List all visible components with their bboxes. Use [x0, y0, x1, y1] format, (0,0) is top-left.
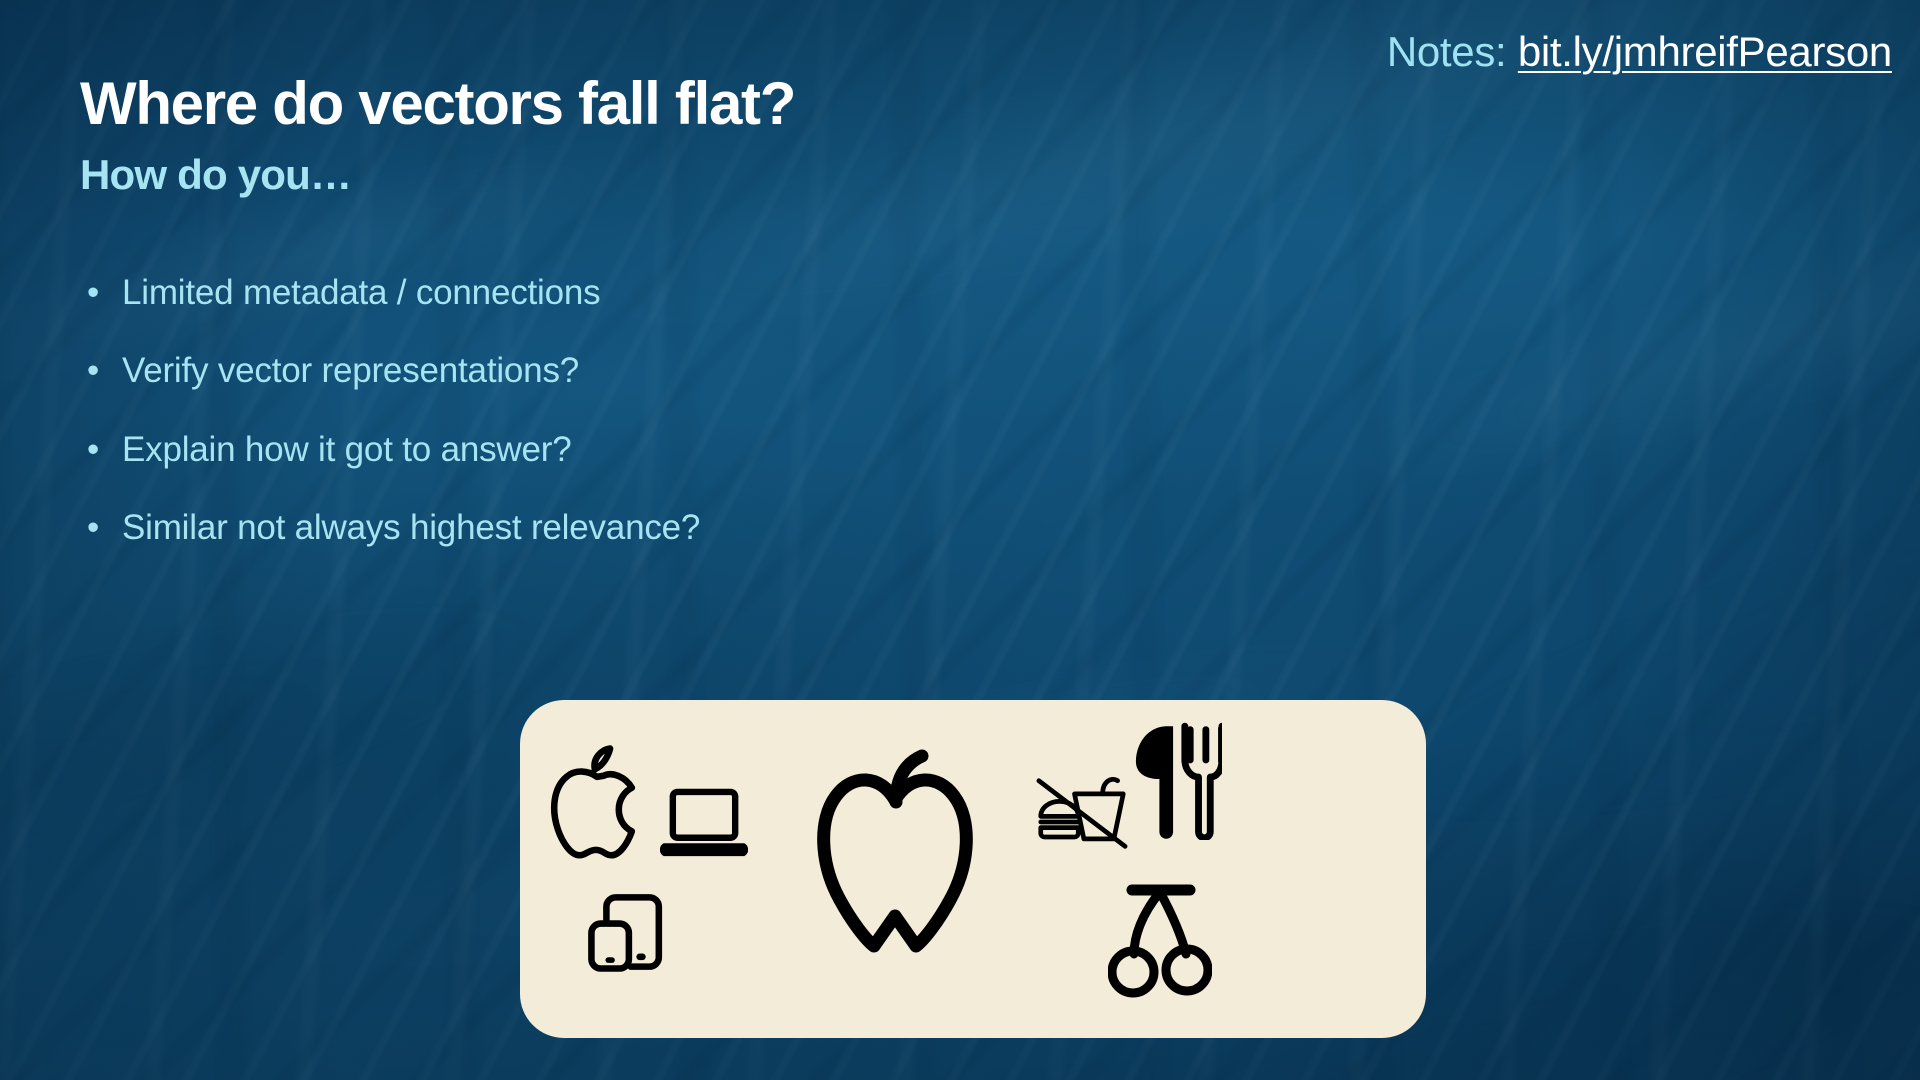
list-item-label: Verify vector representations? [122, 350, 1180, 391]
cherries-icon [1108, 880, 1212, 998]
list-item-label: Explain how it got to answer? [122, 429, 1180, 470]
list-item: • Limited metadata / connections [80, 272, 1180, 313]
bullet-marker-icon: • [80, 429, 122, 470]
slide-title: Where do vectors fall flat? [80, 72, 795, 137]
slide-root: Notes: bit.ly/jmhreifPearson Where do ve… [0, 0, 1920, 1080]
notes-url-link[interactable]: bit.ly/jmhreifPearson [1518, 28, 1892, 75]
slide-subtitle: How do you… [80, 152, 351, 198]
bullet-marker-icon: • [80, 350, 122, 391]
bullet-marker-icon: • [80, 507, 122, 548]
notes-line: Notes: bit.ly/jmhreifPearson [1387, 28, 1892, 75]
devices-icon [582, 888, 672, 976]
list-item: • Verify vector representations? [80, 350, 1180, 391]
cutlery-icon [1132, 722, 1222, 840]
list-item-label: Similar not always highest relevance? [122, 507, 1180, 548]
icon-card [520, 700, 1426, 1038]
apple-logo-icon [542, 742, 652, 864]
list-item-label: Limited metadata / connections [122, 272, 1180, 313]
list-item: • Explain how it got to answer? [80, 429, 1180, 470]
laptop-icon [660, 786, 748, 862]
apple-fruit-icon [810, 740, 980, 960]
list-item: • Similar not always highest relevance? [80, 507, 1180, 548]
bullet-list: • Limited metadata / connections • Verif… [80, 272, 1180, 585]
no-fast-food-icon [1032, 762, 1132, 852]
bullet-marker-icon: • [80, 272, 122, 313]
notes-label: Notes: [1387, 28, 1518, 75]
